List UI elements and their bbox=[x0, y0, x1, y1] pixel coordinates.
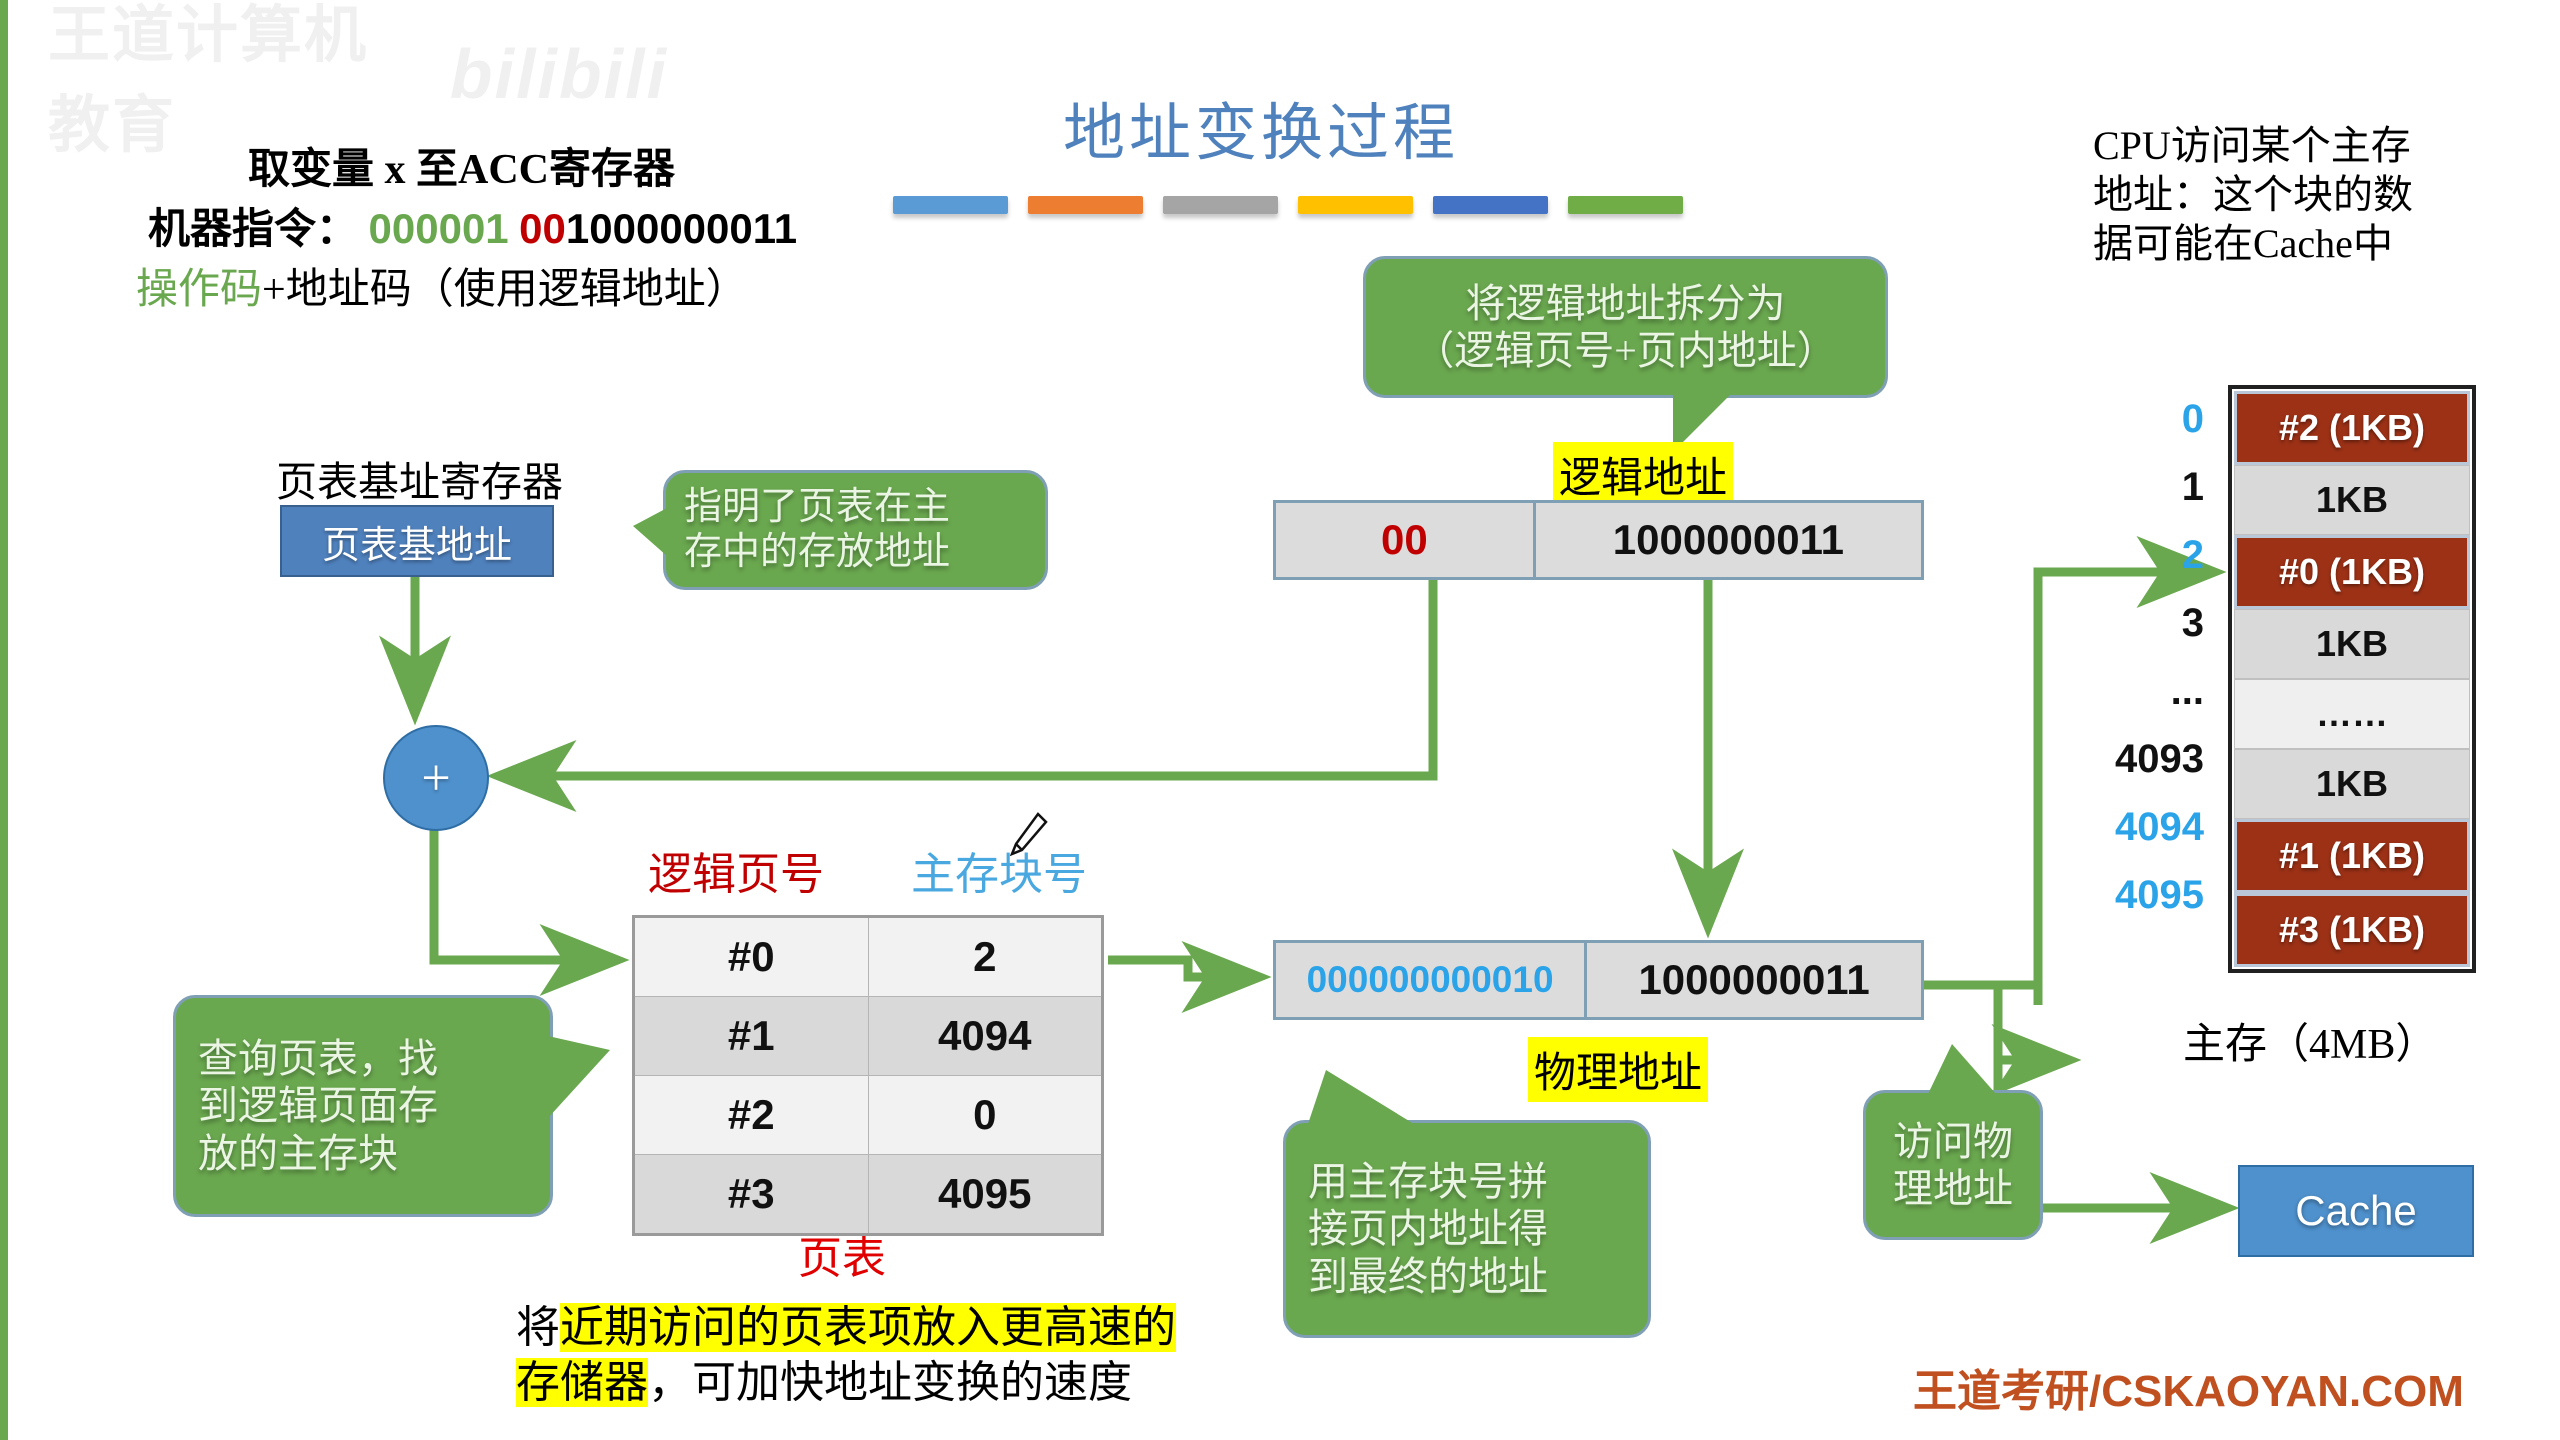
opcode-bits: 000001 bbox=[369, 205, 509, 252]
instruction-description: 取变量 x 至ACC寄存器 bbox=[248, 135, 675, 196]
callout-query-line-3: 放的主存块 bbox=[198, 1130, 528, 1177]
callout-ptbr: 指明了页表在主 存中的存放地址 bbox=[663, 470, 1048, 590]
callout-query-line-1: 查询页表，找 bbox=[198, 1035, 528, 1082]
page-table[interactable]: #0 2 #1 4094 #2 0 #3 4095 bbox=[632, 915, 1104, 1236]
callout-concat-tail bbox=[1308, 1070, 1414, 1124]
callout-visit-line-1: 访问物 bbox=[1880, 1118, 2026, 1165]
brand-footer: 王道考研/CSKAOYAN.COM bbox=[1913, 1355, 2464, 1419]
callout-ptbr-line-1: 指明了页表在主 bbox=[684, 485, 1027, 530]
memory-row-labels: 0 1 2 3 ... 4093 4094 4095 bbox=[2068, 385, 2218, 929]
pagetable-caption: 页表 bbox=[798, 1222, 886, 1286]
memory-cell: …… bbox=[2234, 679, 2470, 749]
bottom-note-highlight-2: 存储器 bbox=[516, 1358, 648, 1407]
memory-label: 0 bbox=[2068, 385, 2218, 453]
ptbr-label: 页表基址寄存器 bbox=[276, 448, 563, 508]
bottom-note-line-2: 存储器，可加快地址变换的速度 bbox=[516, 1355, 1176, 1410]
memory-cell: #1 (1KB) bbox=[2234, 819, 2470, 893]
callout-concat-line-1: 用主存块号拼 bbox=[1308, 1158, 1626, 1205]
title-color-bar-4 bbox=[1298, 196, 1413, 214]
bottom-note-post: ，可加快地址变换的速度 bbox=[648, 1358, 1132, 1407]
pagetable-block-cell: 4094 bbox=[868, 997, 1103, 1076]
table-row[interactable]: #0 2 bbox=[634, 917, 1103, 997]
callout-split-line-1: 将逻辑地址拆分为 bbox=[1386, 280, 1865, 327]
bilibili-logo: bilibili bbox=[450, 34, 668, 114]
page-table-body: #0 2 #1 4094 #2 0 #3 4095 bbox=[634, 917, 1103, 1235]
memory-cell: #2 (1KB) bbox=[2234, 391, 2470, 465]
instruction-format-line: 操作码+地址码（使用逻辑地址） bbox=[136, 255, 748, 316]
title-color-bars bbox=[893, 196, 1683, 214]
memory-label: 2 bbox=[2068, 521, 2218, 589]
memory-label: 4093 bbox=[2068, 725, 2218, 793]
title-color-bar-3 bbox=[1163, 196, 1278, 214]
memory-cell: 1KB bbox=[2234, 749, 2470, 819]
logical-page-offset: 1000000011 bbox=[1536, 503, 1921, 577]
logical-address-tag: 逻辑地址 bbox=[1553, 442, 1733, 507]
title-color-bar-1 bbox=[893, 196, 1008, 214]
callout-visit-line-2: 理地址 bbox=[1880, 1165, 2026, 1212]
page-number-bits: 00 bbox=[519, 205, 566, 252]
title-color-bar-2 bbox=[1028, 196, 1143, 214]
arrow-physical-elbow-base bbox=[1923, 985, 2038, 1005]
logical-page-number: 00 bbox=[1276, 503, 1536, 577]
arrow-plus-to-pagetable bbox=[434, 830, 616, 960]
callout-visit-physical: 访问物 理地址 bbox=[1863, 1090, 2043, 1240]
callout-ptbr-line-2: 存中的存放地址 bbox=[684, 530, 1027, 575]
physical-block-number: 000000000010 bbox=[1276, 943, 1587, 1017]
pagetable-page-cell: #0 bbox=[634, 917, 869, 997]
title-color-bar-6 bbox=[1568, 196, 1683, 214]
machine-instruction-label: 机器指令： bbox=[148, 207, 358, 253]
slide-canvas: 王道计算机教育 bilibili 取变量 x 至ACC寄存器 机器指令： 000… bbox=[0, 0, 2560, 1440]
arrow-pageno-to-plus bbox=[500, 578, 1433, 776]
table-row[interactable]: #2 0 bbox=[634, 1076, 1103, 1155]
memory-cell: #0 (1KB) bbox=[2234, 535, 2470, 609]
callout-concat-line-3: 到最终的地址 bbox=[1308, 1253, 1626, 1300]
pagetable-header-block: 主存块号 bbox=[911, 838, 1087, 902]
callout-ptbr-tail bbox=[633, 508, 667, 556]
memory-cell: #3 (1KB) bbox=[2234, 893, 2470, 967]
watermark: 王道计算机教育 bilibili bbox=[48, 28, 668, 120]
callout-split-line-2: （逻辑页号+页内地址） bbox=[1386, 327, 1865, 374]
arrow-pagetable-to-physical bbox=[1108, 960, 1258, 977]
memory-cell: 1KB bbox=[2234, 465, 2470, 535]
callout-concat-address: 用主存块号拼 接页内地址得 到最终的地址 bbox=[1283, 1120, 1651, 1338]
main-memory-caption: 主存（4MB） bbox=[2183, 1010, 2437, 1071]
cpu-access-note: CPU访问某个主存 地址：这个块的数 据可能在Cache中 bbox=[2093, 122, 2413, 268]
opcode-label: 操作码 bbox=[136, 267, 262, 313]
bottom-note-highlight-1: 近期访问的页表项放入更高速的 bbox=[560, 1303, 1176, 1352]
memory-label: 4095 bbox=[2068, 861, 2218, 929]
pagetable-page-cell: #1 bbox=[634, 997, 869, 1076]
bottom-note-line-1: 将近期访问的页表项放入更高速的 bbox=[516, 1300, 1176, 1355]
callout-split-address: 将逻辑地址拆分为 （逻辑页号+页内地址） bbox=[1363, 256, 1888, 398]
callout-query-pagetable: 查询页表，找 到逻辑页面存 放的主存块 bbox=[173, 995, 553, 1217]
memory-label: 4094 bbox=[2068, 793, 2218, 861]
bottom-note: 将近期访问的页表项放入更高速的 存储器，可加快地址变换的速度 bbox=[516, 1300, 1176, 1410]
pen-icon bbox=[1008, 812, 1048, 856]
offset-bits: 1000000011 bbox=[566, 205, 797, 252]
physical-page-offset: 1000000011 bbox=[1587, 943, 1921, 1017]
memory-label: 3 bbox=[2068, 589, 2218, 657]
callout-visit-tail bbox=[1928, 1044, 1996, 1094]
pagetable-block-cell: 0 bbox=[868, 1076, 1103, 1155]
page-title: 地址变换过程 bbox=[1063, 82, 1459, 172]
physical-address-tag: 物理地址 bbox=[1528, 1037, 1708, 1102]
callout-query-tail bbox=[548, 1036, 610, 1118]
adder-node: + bbox=[383, 725, 489, 831]
pagetable-header-logical: 逻辑页号 bbox=[648, 838, 824, 902]
cache-box[interactable]: Cache bbox=[2238, 1165, 2474, 1257]
pagetable-page-cell: #2 bbox=[634, 1076, 869, 1155]
callout-query-line-2: 到逻辑页面存 bbox=[198, 1082, 528, 1129]
cpu-note-line-2: 地址：这个块的数 bbox=[2093, 171, 2413, 220]
cpu-note-line-1: CPU访问某个主存 bbox=[2093, 122, 2413, 171]
table-row[interactable]: #1 4094 bbox=[634, 997, 1103, 1076]
pagetable-block-cell: 4095 bbox=[868, 1155, 1103, 1235]
callout-concat-line-2: 接页内地址得 bbox=[1308, 1205, 1626, 1252]
memory-label: 1 bbox=[2068, 453, 2218, 521]
bottom-note-pre: 将 bbox=[516, 1303, 560, 1352]
address-code-label: +地址码（使用逻辑地址） bbox=[262, 267, 748, 313]
memory-label: ... bbox=[2068, 657, 2218, 725]
logical-address-box[interactable]: 00 1000000011 bbox=[1273, 500, 1924, 580]
memory-cell: 1KB bbox=[2234, 609, 2470, 679]
title-color-bar-5 bbox=[1433, 196, 1548, 214]
ptbr-box[interactable]: 页表基地址 bbox=[280, 505, 554, 577]
main-memory-frame[interactable]: #2 (1KB) 1KB #0 (1KB) 1KB …… 1KB #1 (1KB… bbox=[2228, 385, 2476, 973]
pagetable-block-cell: 2 bbox=[868, 917, 1103, 997]
cpu-note-line-3: 据可能在Cache中 bbox=[2093, 220, 2413, 269]
machine-instruction-line: 机器指令： 000001 001000000011 bbox=[148, 195, 797, 256]
physical-address-box[interactable]: 000000000010 1000000011 bbox=[1273, 940, 1924, 1020]
